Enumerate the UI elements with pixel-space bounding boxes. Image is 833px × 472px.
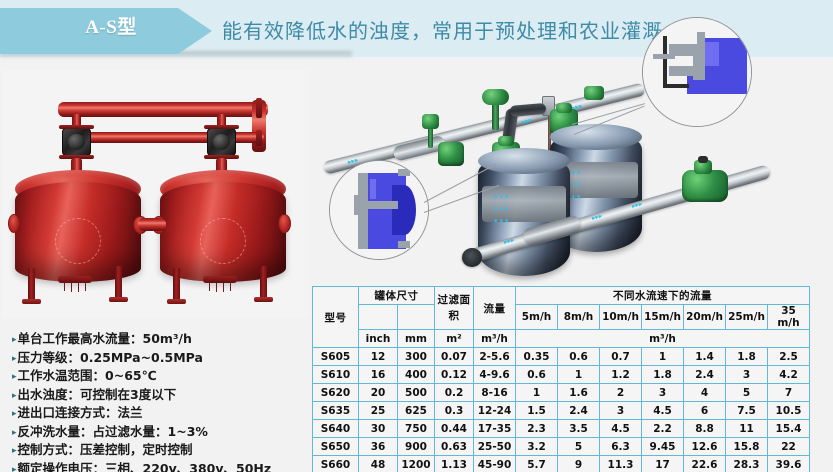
cell-velocity-3: 3 xyxy=(642,384,684,402)
tank-right-side-nozzle-r xyxy=(278,214,291,233)
cell-area: 0.2 xyxy=(435,384,474,402)
manifold-end-flange-bottom xyxy=(256,130,262,146)
bullet-label: 单台工作最高水流量：50m³/h xyxy=(18,330,192,349)
table-header-row-2: 5m/h 8m/h 10m/h 15m/h 20m/h 25m/h 35 m/h xyxy=(313,305,810,330)
cell-velocity-0: 1.5 xyxy=(516,402,558,420)
bullet-marker-icon: ▸ xyxy=(12,423,17,441)
th-velocity-group: 不同水流速下的流量 xyxy=(516,287,810,305)
cell-velocity-1: 0.6 xyxy=(558,348,600,366)
cell-velocity-4: 6 xyxy=(684,402,726,420)
cell-model: S610 xyxy=(313,366,359,384)
cell-area: 0.44 xyxy=(435,420,474,438)
tank-right-leg-2 xyxy=(260,266,267,298)
bullet-marker-icon: ▸ xyxy=(12,460,17,472)
bullet-item: ▸ 反冲洗水量：占过滤水量：1~3% xyxy=(12,423,312,442)
th-unit-velocity: m³/h xyxy=(516,330,810,348)
cell-velocity-4: 4 xyxy=(684,384,726,402)
manifold-end-flange-top xyxy=(256,98,262,118)
slide-root: A-S型 能有效降低水的浊度，常用于预处理和农业灌溉 xyxy=(0,0,833,472)
left-tank-valve-cap xyxy=(498,136,514,146)
tank-left-manway xyxy=(55,218,101,264)
cell-velocity-1: 1 xyxy=(558,366,600,384)
bullet-item: ▸ 控制方式：压差控制，定时控制 xyxy=(12,441,312,460)
cell-mm: 750 xyxy=(398,420,435,438)
bullet-marker-icon: ▸ xyxy=(12,441,17,459)
bullet-label: 工作水温范围：0~65℃ xyxy=(18,367,157,386)
th-velocity-8: 8m/h xyxy=(558,305,600,330)
tank-left-foot-2 xyxy=(109,297,128,302)
cell-velocity-5: 1.8 xyxy=(726,348,768,366)
air-valve-left-head xyxy=(422,114,439,129)
cell-area: 0.12 xyxy=(435,366,474,384)
table-row: S605123000.072-5.60.350.60.711.41.82.5 xyxy=(313,348,810,366)
cell-inch: 25 xyxy=(359,402,398,420)
th-model: 型号 xyxy=(313,287,359,348)
cell-model: S620 xyxy=(313,384,359,402)
cell-velocity-0: 5.7 xyxy=(516,456,558,472)
bullet-marker-icon: ▸ xyxy=(12,330,17,348)
cell-velocity-1: 5 xyxy=(558,438,600,456)
tank-right-leg-1 xyxy=(173,268,180,300)
cell-velocity-0: 1 xyxy=(516,384,558,402)
top-manifold-pipe xyxy=(58,102,268,117)
cell-velocity-5: 3 xyxy=(726,366,768,384)
table-header-row-1: 型号 罐体尺寸 过滤面积 流量 不同水流速下的流量 xyxy=(313,287,810,305)
cell-velocity-3: 1.8 xyxy=(642,366,684,384)
cell-inch: 36 xyxy=(359,438,398,456)
th-velocity-spacer-inch xyxy=(359,305,398,330)
cell-inch: 20 xyxy=(359,384,398,402)
cell-area: 1.13 xyxy=(435,456,474,472)
cell-mm: 400 xyxy=(398,366,435,384)
bullet-marker-icon: ▸ xyxy=(12,386,17,404)
spec-table-wrapper: 型号 罐体尺寸 过滤面积 流量 不同水流速下的流量 5m/h 8m/h 10m/… xyxy=(312,286,810,472)
tank-left-side-nozzle-l xyxy=(8,214,20,233)
cell-velocity-4: 2.4 xyxy=(684,366,726,384)
cell-area: 0.63 xyxy=(435,438,474,456)
cell-model: S650 xyxy=(313,438,359,456)
cell-flow: 45-90 xyxy=(474,456,516,472)
right-tank-valve-cap xyxy=(556,103,572,113)
th-flow: 流量 xyxy=(474,287,516,330)
cell-velocity-3: 17 xyxy=(642,456,684,472)
cell-velocity-2: 6.3 xyxy=(600,438,642,456)
cell-velocity-5: 28.3 xyxy=(726,456,768,472)
table-row: S620205000.28-1611.623457 xyxy=(313,384,810,402)
cell-velocity-5: 5 xyxy=(726,384,768,402)
th-velocity-35: 35 m/h xyxy=(768,305,810,330)
th-velocity-25: 25m/h xyxy=(726,305,768,330)
cell-velocity-1: 9 xyxy=(558,456,600,472)
bullet-label: 反冲洗水量：占过滤水量：1~3% xyxy=(18,423,208,442)
cell-area: 0.07 xyxy=(435,348,474,366)
tank-left-leg-1 xyxy=(28,268,35,300)
cell-velocity-0: 0.6 xyxy=(516,366,558,384)
filter-tank-front-dome xyxy=(478,148,570,174)
cell-flow: 17-35 xyxy=(474,420,516,438)
spec-table-body: S605123000.072-5.60.350.60.711.41.82.5S6… xyxy=(313,348,810,472)
callout-top-right xyxy=(642,17,752,127)
cell-velocity-2: 4.5 xyxy=(600,420,642,438)
cell-model: S660 xyxy=(313,456,359,472)
cell-velocity-0: 3.2 xyxy=(516,438,558,456)
tank-left-valve-cap xyxy=(68,134,85,150)
table-row: S610164000.124-9.60.611.21.82.434.2 xyxy=(313,366,810,384)
tank-right-foot-2 xyxy=(254,297,273,302)
cell-area: 0.3 xyxy=(435,402,474,420)
cell-velocity-5: 7.5 xyxy=(726,402,768,420)
cell-inch: 48 xyxy=(359,456,398,472)
bullet-label: 进出口连接方式：法兰 xyxy=(18,404,143,423)
th-velocity-15: 15m/h xyxy=(642,305,684,330)
cell-velocity-6: 39.6 xyxy=(768,456,810,472)
air-valve-mid-head xyxy=(482,89,509,105)
cell-flow: 25-50 xyxy=(474,438,516,456)
tank-right-valve-cap xyxy=(213,134,230,150)
cell-velocity-5: 11 xyxy=(726,420,768,438)
bullet-item: ▸ 工作水温范围：0~65℃ xyxy=(12,367,312,386)
cell-velocity-6: 4.2 xyxy=(768,366,810,384)
cell-inch: 16 xyxy=(359,366,398,384)
cell-model: S635 xyxy=(313,402,359,420)
bullet-item: ▸ 进出口连接方式：法兰 xyxy=(12,404,312,423)
th-unit-area: m² xyxy=(435,330,474,348)
tank-right-manway xyxy=(200,218,246,264)
cell-velocity-2: 3 xyxy=(600,402,642,420)
lower-pipe-open-end xyxy=(462,248,482,267)
bullet-item: ▸ 单台工作最高水流量：50m³/h xyxy=(12,330,312,349)
filter-tank-front-band xyxy=(482,186,566,222)
cell-velocity-1: 3.5 xyxy=(558,420,600,438)
cell-velocity-5: 15.8 xyxy=(726,438,768,456)
cell-velocity-4: 1.4 xyxy=(684,348,726,366)
cell-velocity-2: 11.3 xyxy=(600,456,642,472)
cell-mm: 500 xyxy=(398,384,435,402)
th-unit-flow: m³/h xyxy=(474,330,516,348)
cell-mm: 300 xyxy=(398,348,435,366)
bullet-label: 出水浊度：可控制在3度以下 xyxy=(18,386,177,405)
th-velocity-10: 10m/h xyxy=(600,305,642,330)
cell-velocity-2: 1.2 xyxy=(600,366,642,384)
tank-left-foot-1 xyxy=(22,299,41,304)
cell-velocity-6: 10.5 xyxy=(768,402,810,420)
table-row: S640307500.4417-352.33.54.52.28.81115.4 xyxy=(313,420,810,438)
page-title: 能有效降低水的浊度，常用于预处理和农业灌溉 xyxy=(222,15,663,44)
cell-model: S605 xyxy=(313,348,359,366)
th-tank-size: 罐体尺寸 xyxy=(359,287,435,305)
cell-velocity-6: 22 xyxy=(768,438,810,456)
cell-velocity-4: 22.6 xyxy=(684,456,726,472)
backwash-valve xyxy=(682,170,728,202)
system-diagram: ▸▸▸ ▸▸▸ ▸▸▸ ▸▸▸ ▾ ▾ ▾ ▾ ▾ ▾ ▾ ▾ ▾ xyxy=(332,62,832,284)
tank-right-foot-1 xyxy=(167,299,186,304)
cell-velocity-0: 2.3 xyxy=(516,420,558,438)
cell-flow: 8-16 xyxy=(474,384,516,402)
right-upper-valve xyxy=(584,86,604,100)
spec-bullet-list: ▸ 单台工作最高水流量：50m³/h ▸ 压力等级：0.25MPa~0.5MPa… xyxy=(12,330,312,472)
th-unit-inch: inch xyxy=(359,330,398,348)
bullet-marker-icon: ▸ xyxy=(12,349,17,367)
tank-left-leg-2 xyxy=(115,266,122,298)
model-badge-label: A-S型 xyxy=(36,12,186,39)
cell-velocity-1: 1.6 xyxy=(558,384,600,402)
th-filter-area: 过滤面积 xyxy=(435,287,474,330)
callout-center-left xyxy=(329,160,429,260)
bullet-item: ▸ 额定操作电压：三相、220v、380v、50Hz xyxy=(12,460,312,472)
th-velocity-spacer-mm xyxy=(398,305,435,330)
spec-table-head: 型号 罐体尺寸 过滤面积 流量 不同水流速下的流量 5m/h 8m/h 10m/… xyxy=(313,287,810,348)
cell-velocity-3: 2.2 xyxy=(642,420,684,438)
left-tank-three-way-valve xyxy=(438,142,464,166)
cell-velocity-6: 15.4 xyxy=(768,420,810,438)
cell-velocity-4: 8.8 xyxy=(684,420,726,438)
cell-flow: 12-24 xyxy=(474,402,516,420)
tank-right-valve-flange-top xyxy=(204,125,239,129)
cell-velocity-3: 4.5 xyxy=(642,402,684,420)
cell-velocity-0: 0.35 xyxy=(516,348,558,366)
backwash-valve-knob xyxy=(698,156,708,163)
filter-tank-back-dome xyxy=(550,124,642,150)
cell-inch: 30 xyxy=(359,420,398,438)
cell-velocity-3: 9.45 xyxy=(642,438,684,456)
cell-velocity-6: 7 xyxy=(768,384,810,402)
bullet-marker-icon: ▸ xyxy=(12,367,17,385)
cell-velocity-3: 1 xyxy=(642,348,684,366)
spec-table: 型号 罐体尺寸 过滤面积 流量 不同水流速下的流量 5m/h 8m/h 10m/… xyxy=(312,286,810,472)
table-header-row-3: inch mm m² m³/h m³/h xyxy=(313,330,810,348)
table-row: S6604812001.1345-905.7911.31722.628.339.… xyxy=(313,456,810,472)
product-photo xyxy=(2,70,308,318)
cell-velocity-1: 2.4 xyxy=(558,402,600,420)
cell-flow: 4-9.6 xyxy=(474,366,516,384)
th-velocity-5: 5m/h xyxy=(516,305,558,330)
th-unit-mm: mm xyxy=(398,330,435,348)
table-row: S650369000.6325-503.256.39.4512.615.822 xyxy=(313,438,810,456)
bullet-item: ▸ 出水浊度：可控制在3度以下 xyxy=(12,386,312,405)
bullet-label: 压力等级：0.25MPa~0.5MPa xyxy=(18,349,203,368)
cell-flow: 2-5.6 xyxy=(474,348,516,366)
table-row: S635256250.312-241.52.434.567.510.5 xyxy=(313,402,810,420)
tank-left-valve-flange-top xyxy=(59,125,94,129)
cell-velocity-6: 2.5 xyxy=(768,348,810,366)
cell-model: S640 xyxy=(313,420,359,438)
th-velocity-20: 20m/h xyxy=(684,305,726,330)
cell-inch: 12 xyxy=(359,348,398,366)
bullet-label: 控制方式：压差控制，定时控制 xyxy=(18,441,193,460)
bullet-item: ▸ 压力等级：0.25MPa~0.5MPa xyxy=(12,349,312,368)
cell-mm: 900 xyxy=(398,438,435,456)
inter-tank-connection-pipe xyxy=(138,218,166,231)
cell-velocity-4: 12.6 xyxy=(684,438,726,456)
bullet-label: 额定操作电压：三相、220v、380v、50Hz xyxy=(18,460,272,472)
cell-mm: 625 xyxy=(398,402,435,420)
cell-mm: 1200 xyxy=(398,456,435,472)
cell-velocity-2: 2 xyxy=(600,384,642,402)
cell-velocity-2: 0.7 xyxy=(600,348,642,366)
bullet-marker-icon: ▸ xyxy=(12,404,17,422)
